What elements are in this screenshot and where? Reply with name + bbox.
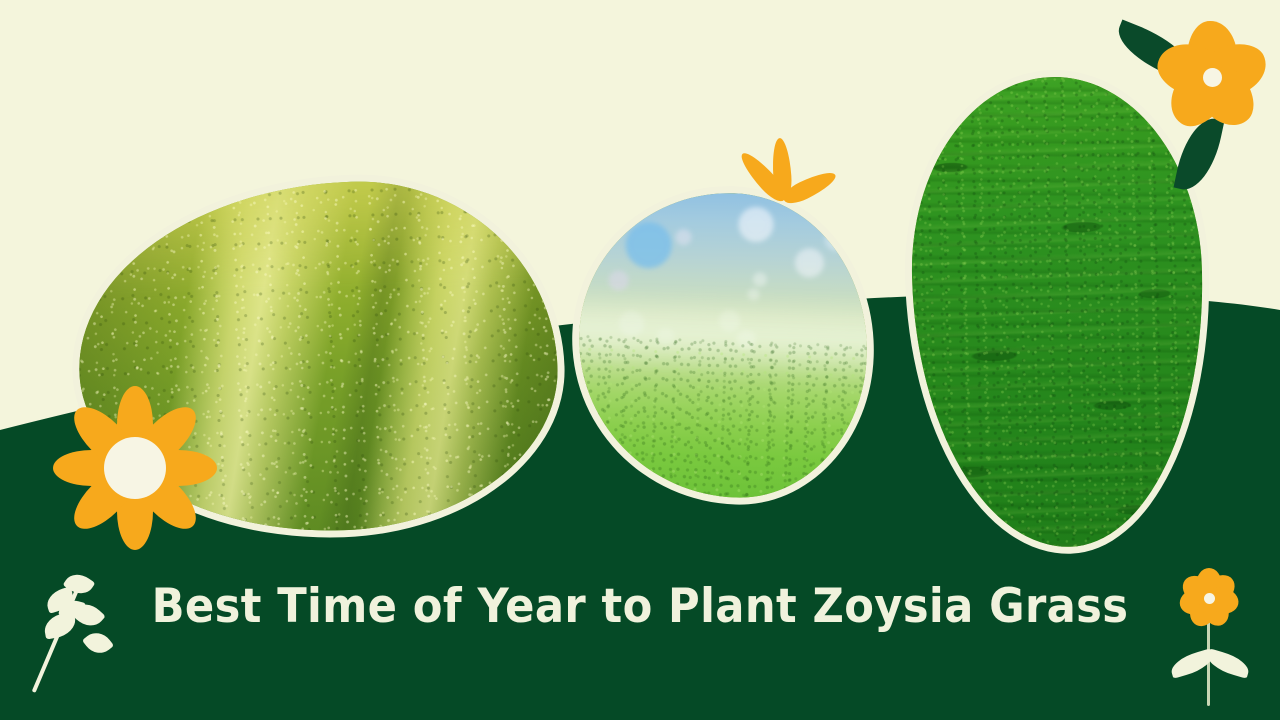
photo-3-image [907,73,1209,550]
photo-3-grass-speckle [907,73,1209,550]
flower-leaf [1204,648,1252,678]
orange-five-petal-flower [1148,14,1276,140]
photo-2-image [574,188,872,502]
sky-bokeh-lawn-photo [567,181,880,509]
poster-canvas: Best Time of Year to Plant Zoysia Grass [0,0,1280,720]
daisy-center [104,437,166,499]
orange-sprout [742,118,852,202]
flower-center [1203,68,1222,87]
page-title: Best Time of Year to Plant Zoysia Grass [51,578,1229,636]
photo-2-grass-texture [574,334,867,502]
orange-daisy-flower [42,378,228,558]
